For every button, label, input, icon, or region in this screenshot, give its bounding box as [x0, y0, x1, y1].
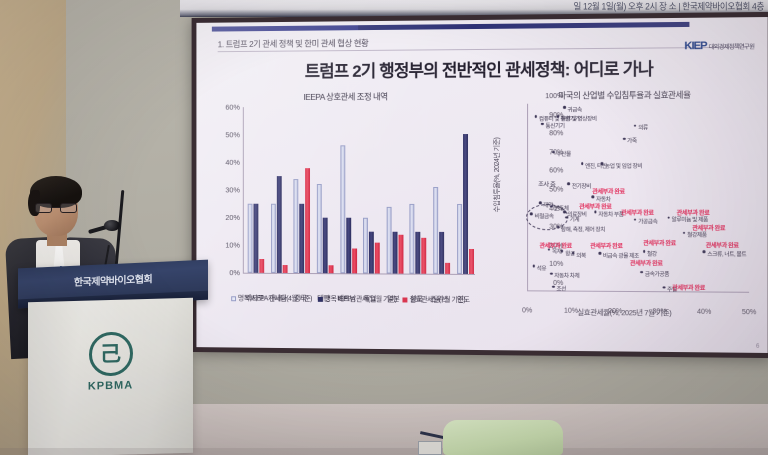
bar	[416, 232, 421, 274]
bar-chart-plot-area: 0%10%20%30%40%50%60%멕시코캐나다중국대만베트남독일일본한국스…	[243, 106, 475, 274]
scatter-point	[541, 123, 544, 126]
scatter-chart-y-axis-label: 수입침투율(%, 2024년 기준)	[492, 105, 502, 245]
scatter-point-label: 금속가공품	[645, 270, 669, 278]
slide-title: 트럼프 2기 행정부의 전반적인 관세정책: 어디로 가나	[196, 54, 767, 83]
foreground-chair	[443, 420, 563, 455]
podium-plaque-text: 한국제약바이오협회	[18, 268, 208, 292]
bar-group	[386, 106, 403, 273]
kpbma-logo: 己 KPBMA	[28, 330, 193, 395]
scatter-chart-title: 마국의 산업별 수입침투율과 실효관세율	[487, 88, 764, 102]
bar-chart-y-tick: 10%	[225, 241, 240, 250]
presentation-slide: 1. 트럼프 2기 관세 정책 및 한미 관세 협상 현황 KIEP 대외경제정…	[196, 17, 767, 353]
chair-side-panel	[418, 441, 442, 455]
bar	[346, 218, 351, 274]
kiep-logo: KIEP 대외경제정책연구원	[684, 40, 754, 53]
scatter-red-annotation: 관세부과 완료	[539, 241, 571, 250]
bar-chart-y-tick: 40%	[225, 158, 240, 167]
glasses-bridge	[52, 207, 60, 208]
bar	[410, 204, 415, 274]
scatter-red-annotation: 관세부과 완료	[579, 202, 611, 211]
scatter-point	[550, 272, 553, 275]
scatter-red-annotation: 관세부과 완료	[630, 258, 663, 267]
scatter-red-annotation: 관세부과 완료	[590, 241, 622, 250]
bar	[392, 232, 397, 274]
scatter-red-annotation: 관세부과 완료	[672, 283, 705, 292]
scatter-annotation-note: 조사 중	[538, 179, 555, 188]
scatter-red-annotation: 관세부과 완료	[643, 238, 676, 247]
scatter-point-label: 비철금속	[534, 212, 553, 220]
conference-photo: 일 12월 1일(월) 오후 2시 장 소 | 한국제약바이오협회 4층 1. …	[0, 0, 768, 455]
scatter-point	[601, 162, 604, 165]
bar	[294, 179, 299, 273]
bar	[277, 176, 282, 273]
scatter-point	[532, 265, 535, 268]
legend-item: 명목 IEEPA 관세율(4월 기준)	[231, 294, 312, 305]
scatter-point	[572, 252, 575, 255]
scatter-point	[552, 151, 555, 154]
kpbma-logo-text: KPBMA	[88, 379, 133, 392]
scatter-point	[539, 201, 542, 204]
bar	[271, 204, 276, 273]
scatter-point-label: 석유	[537, 264, 547, 272]
legend-item: 실효관세율(7월 기준)	[403, 295, 466, 306]
scatter-point	[565, 216, 568, 219]
scatter-point	[634, 218, 637, 221]
legend-swatch	[318, 297, 323, 302]
legend-label: 실효관세율(7월 기준)	[409, 297, 465, 304]
bar-group	[410, 106, 427, 273]
scatter-point-label: 엔진, 터빈	[585, 161, 607, 169]
slide-top-accent-right	[358, 22, 689, 30]
scatter-y-tick: 60%	[549, 168, 563, 175]
bar-group	[433, 106, 450, 274]
bar	[375, 243, 380, 274]
bar-group	[363, 106, 380, 273]
scatter-point-label: 스크류, 너트, 볼트	[707, 250, 746, 258]
scatter-point-label: 철강제품	[687, 231, 706, 239]
bar	[282, 265, 287, 273]
scatter-red-annotation: 관세부과 완료	[677, 208, 710, 217]
scatter-point	[530, 213, 533, 216]
bar-chart-y-tick: 60%	[225, 103, 240, 112]
bar	[363, 218, 368, 274]
bar	[439, 232, 444, 274]
bar	[386, 207, 391, 274]
scatter-point	[563, 211, 566, 214]
scatter-point	[567, 183, 570, 186]
kpbma-logo-ring: 己	[89, 331, 133, 376]
scatter-point	[556, 115, 559, 118]
scatter-point	[592, 196, 595, 199]
scatter-point	[667, 217, 670, 220]
scatter-point-label: 의류	[638, 124, 648, 132]
bar	[300, 204, 305, 273]
bar-group	[317, 107, 334, 274]
bar-chart-title: IEEPA 상호관세 조정 내역	[208, 90, 485, 103]
scatter-red-annotation: 관세부과 완료	[621, 208, 654, 217]
scatter-point-label: 자동차 차체	[554, 272, 579, 280]
bar	[445, 263, 450, 274]
bar-group	[457, 106, 474, 274]
legend-item: 명목 IEEPA 관세(11월 기준)	[318, 295, 397, 306]
scatter-red-annotation: 관세부과 완료	[592, 187, 624, 196]
kiep-logo-mark: KIEP	[684, 40, 706, 52]
slide-breadcrumb: 1. 트럼프 2기 관세 정책 및 한미 관세 협상 현황	[218, 37, 369, 50]
scatter-point-label: 조선	[556, 285, 566, 293]
legend-swatch	[403, 297, 408, 302]
bar-chart: IEEPA 상호관세 조정 내역 0%10%20%30%40%50%60%멕시코…	[208, 90, 485, 340]
kpbma-logo-glyph: 己	[100, 343, 121, 365]
scatter-point	[556, 226, 559, 229]
scatter-point	[535, 115, 538, 118]
scatter-chart-x-axis-label: 실효관세율(%, 2025년 7월 기준)	[487, 306, 764, 319]
bar	[369, 232, 374, 274]
scatter-point	[643, 250, 646, 253]
bar	[323, 218, 328, 273]
scatter-point	[581, 162, 584, 165]
legend-swatch	[231, 296, 236, 301]
bar	[317, 184, 322, 273]
scatter-point-label: 수산물	[556, 150, 570, 158]
bar-group	[294, 107, 311, 273]
bar	[422, 237, 427, 273]
legend-label: 명목 IEEPA 관세율(4월 기준)	[238, 295, 312, 302]
bar-group	[340, 107, 357, 274]
bar	[248, 204, 253, 273]
scatter-point	[634, 124, 637, 127]
bar-chart-y-tick: 30%	[225, 185, 240, 194]
bar-chart-legend: 명목 IEEPA 관세율(4월 기준)명목 IEEPA 관세(11월 기준)실효…	[218, 294, 479, 306]
scatter-chart-plot-area: 0%10%20%30%40%50%60%70%80%90%100%0%10%20…	[527, 103, 749, 292]
scatter-point	[663, 286, 666, 289]
bar	[457, 204, 462, 274]
bar-chart-y-tick: 20%	[225, 213, 240, 222]
scatter-point-label: 가죽	[627, 137, 637, 145]
scatter-point	[550, 205, 553, 208]
scatter-y-tick: 80%	[549, 130, 563, 137]
scatter-point-label: 농업 및 임업 장비	[605, 161, 642, 169]
bar	[433, 187, 438, 274]
venue-banner-text: 일 12월 1일(월) 오후 2시 장 소 | 한국제약바이오협회 4층	[573, 0, 764, 13]
scatter-point-label: 의복	[576, 251, 586, 259]
slide-top-accent-left	[212, 25, 358, 31]
scatter-red-annotation: 관세부과 완료	[706, 240, 739, 249]
scatter-point	[561, 250, 564, 253]
legend-label: 명목 IEEPA 관세(11월 기준)	[325, 296, 397, 303]
bar-group	[248, 107, 265, 273]
floor-shadow	[0, 448, 768, 455]
scatter-point	[552, 285, 555, 288]
scatter-point-label: 자동차 부품	[598, 210, 623, 218]
scatter-point	[594, 211, 597, 214]
microphone-head	[104, 220, 120, 231]
bar	[352, 248, 357, 273]
scatter-point	[598, 252, 601, 255]
scatter-point-label: 통신기기	[545, 122, 564, 130]
scatter-point-label: 기계	[570, 216, 580, 224]
bar	[469, 249, 474, 274]
bar	[254, 204, 259, 273]
scatter-point	[683, 232, 686, 235]
scatter-point	[640, 271, 643, 274]
scatter-point-label: 항해, 측정, 제어 장치	[561, 225, 605, 233]
scatter-chart: 마국의 산업별 수입침투율과 실효관세율 0%10%20%30%40%50%60…	[487, 88, 764, 342]
glasses-lens-left	[35, 203, 52, 213]
glasses-lens-right	[60, 203, 77, 213]
scatter-point-label: 가공금속	[638, 218, 657, 226]
scatter-point-label: 전기장비	[572, 182, 591, 190]
kiep-logo-subtitle: 대외경제정책연구원	[709, 41, 755, 51]
bar	[329, 265, 334, 273]
bar	[340, 146, 345, 274]
slide-page-number: 6	[756, 344, 759, 350]
bar	[306, 168, 311, 273]
bar-chart-y-tick: 50%	[225, 130, 240, 139]
bar	[260, 259, 265, 273]
scatter-point-label: 음향 및 영상장비	[561, 115, 597, 123]
scatter-point-label: 철강	[647, 250, 657, 258]
scatter-point	[703, 251, 706, 254]
scatter-point	[623, 138, 626, 141]
bar	[398, 235, 403, 274]
scatter-point	[563, 106, 566, 109]
scatter-y-tick: 10%	[549, 261, 563, 268]
scatter-point-label: 귀금속	[567, 105, 581, 113]
projection-screen-frame: 1. 트럼프 2기 관세 정책 및 한미 관세 협상 현황 KIEP 대외경제정…	[192, 12, 768, 358]
bar	[463, 134, 468, 274]
scatter-y-tick: 100%	[545, 93, 563, 100]
bar-group	[271, 107, 288, 273]
scatter-red-annotation: 관세부과 완료	[692, 223, 725, 232]
podium-body: 己 KPBMA	[28, 298, 193, 455]
speaker-glasses	[35, 203, 77, 213]
bar-chart-y-tick: 0%	[229, 268, 240, 277]
